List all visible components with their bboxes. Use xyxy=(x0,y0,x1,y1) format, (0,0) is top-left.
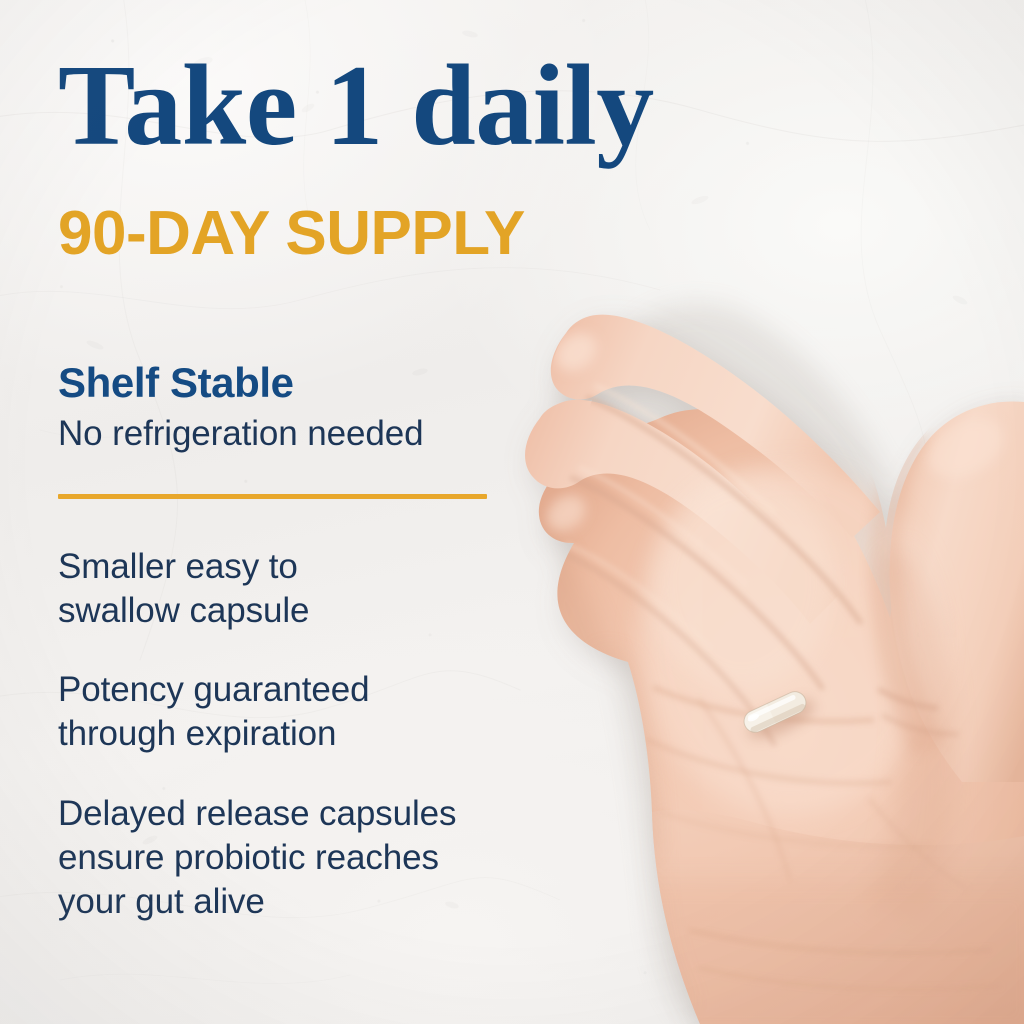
promo-graphic: Take 1 daily 90-DAY SUPPLY Shelf Stable … xyxy=(0,0,1024,1024)
marble-speckle-overlay xyxy=(0,0,1024,1024)
